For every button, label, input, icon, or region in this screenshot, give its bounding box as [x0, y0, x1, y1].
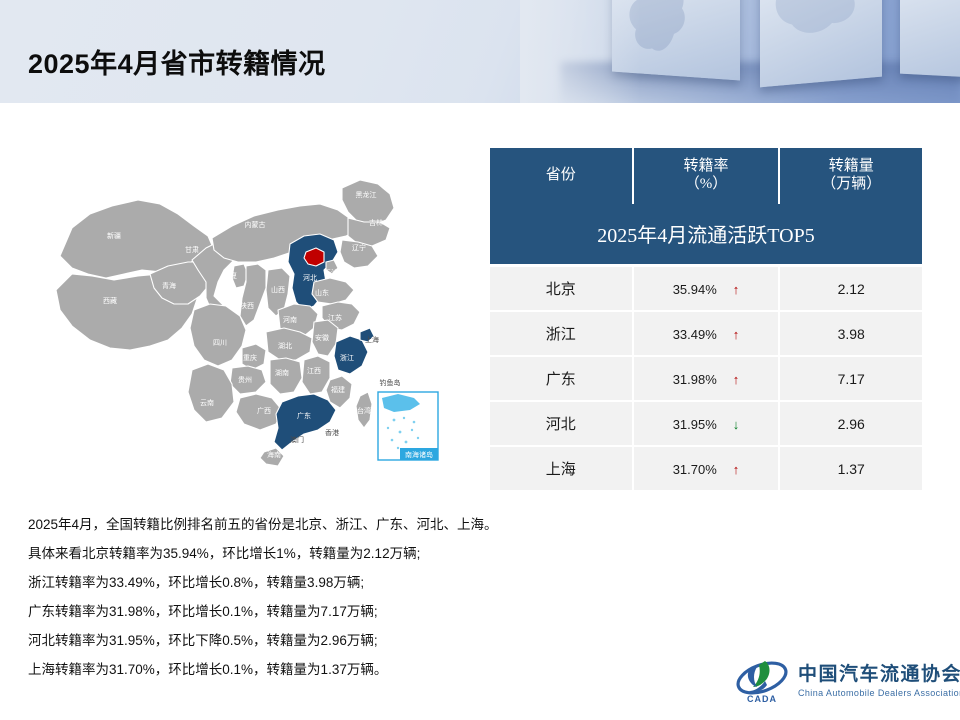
- cell-province: 北京: [490, 266, 633, 312]
- summary-line: 广东转籍率为31.98%，环比增长0.1%，转籍量为7.17万辆;: [28, 597, 668, 626]
- summary-text: 2025年4月，全国转籍比例排名前五的省份是北京、浙江、广东、河北、上海。具体来…: [28, 510, 668, 684]
- cell-rate: 33.49%↑: [633, 311, 780, 356]
- cell-volume: 3.98: [779, 311, 922, 356]
- cell-rate: 31.98%↑: [633, 356, 780, 401]
- table-column-headers: 省份 转籍率 （%） 转籍量 （万辆）: [490, 148, 922, 204]
- column-header-province-line1: 省份: [546, 167, 576, 183]
- column-header-rate-line1: 转籍率: [683, 158, 728, 174]
- cell-volume: 2.96: [779, 401, 922, 446]
- cell-rate: 31.70%↑: [633, 446, 780, 491]
- map-label-zhejiang: 浙江: [340, 353, 354, 362]
- rate-value: 33.49%: [673, 327, 717, 342]
- column-header-volume-line2: （万辆）: [821, 176, 881, 192]
- column-header-rate: 转籍率 （%）: [633, 148, 780, 204]
- column-header-volume: 转籍量 （万辆）: [779, 148, 922, 204]
- map-label-gansu: 甘肃: [185, 245, 199, 254]
- header-cube-3-icon: [900, 0, 960, 78]
- globe-texture-icon: [760, 0, 882, 87]
- cell-province: 上海: [490, 446, 633, 491]
- cell-province: 广东: [490, 356, 633, 401]
- map-label-xizang: 西藏: [103, 296, 117, 305]
- logo-name-cn: 中国汽车流通协会: [798, 665, 960, 684]
- cada-swirl-icon: CADA: [735, 657, 791, 705]
- logo-text-block: 中国汽车流通协会 China Automobile Dealers Associ…: [798, 665, 960, 698]
- province-guangdong: [274, 394, 336, 450]
- map-label-shandong: 山东: [315, 288, 329, 297]
- china-map: 南海诸岛 新疆西藏青海甘肃内蒙古黑龙江吉林辽宁宁夏山西陕西山东河南江苏安徽湖北四…: [22, 170, 462, 480]
- column-header-volume-line1: 转籍量: [829, 158, 874, 174]
- map-label-hunan: 湖南: [275, 368, 289, 377]
- cell-rate: 31.95%↓: [633, 401, 780, 446]
- map-label-guizhou: 贵州: [238, 375, 252, 384]
- map-label-qinghai: 青海: [162, 281, 176, 290]
- cada-mark-icon: CADA: [735, 657, 791, 705]
- header-cube-2-icon: [760, 0, 882, 87]
- map-label-liaoning: 辽宁: [352, 243, 366, 252]
- table-row: 浙江33.49%↑3.98: [490, 311, 922, 356]
- map-label-diaoyudao: 钓鱼岛: [380, 378, 401, 387]
- map-label-xinjiang: 新疆: [107, 231, 121, 240]
- cell-province: 浙江: [490, 311, 633, 356]
- map-label-heilongjiang: 黑龙江: [356, 190, 377, 199]
- map-label-chongqing: 重庆: [243, 353, 257, 362]
- province-yunnan: [188, 364, 234, 422]
- table-title: 2025年4月流通活跃TOP5: [490, 204, 922, 266]
- trend-down-icon: ↓: [733, 418, 740, 431]
- map-label-hongkong: 香港: [325, 428, 339, 437]
- table-row: 北京35.94%↑2.12: [490, 266, 922, 312]
- column-header-province: 省份: [490, 148, 633, 204]
- header-gradient-fade: [520, 0, 640, 103]
- cell-province: 河北: [490, 401, 633, 446]
- map-label-shaanxi: 陕西: [240, 301, 254, 310]
- table-row: 广东31.98%↑7.17: [490, 356, 922, 401]
- south-china-sea-inset: 南海诸岛: [378, 392, 438, 460]
- trend-up-icon: ↑: [733, 283, 740, 296]
- table-row: 河北31.95%↓2.96: [490, 401, 922, 446]
- rate-value: 31.70%: [673, 462, 717, 477]
- summary-line: 浙江转籍率为33.49%，环比增长0.8%，转籍量3.98万辆;: [28, 568, 668, 597]
- trend-up-icon: ↑: [733, 463, 740, 476]
- map-label-fujian: 福建: [331, 385, 345, 394]
- summary-line: 具体来看北京转籍率为35.94%，环比增长1%，转籍量为2.12万辆;: [28, 539, 668, 568]
- map-label-guangdong: 广东: [297, 411, 311, 420]
- map-label-neimenggu: 内蒙古: [245, 220, 266, 229]
- map-label-tianjin: 天津: [324, 269, 338, 277]
- rate-value: 31.98%: [673, 372, 717, 387]
- top5-table: 2025年4月流通活跃TOP5 省份 转籍率 （%） 转籍量 （万辆） 北京35…: [490, 148, 922, 492]
- map-label-beijing: 北京: [307, 253, 321, 262]
- rate-value: 31.95%: [673, 417, 717, 432]
- summary-line: 上海转籍率为31.70%，环比增长0.1%，转籍量为1.37万辆。: [28, 655, 668, 684]
- map-label-henan: 河南: [283, 315, 297, 324]
- map-label-hainan: 海南: [267, 450, 281, 459]
- province-jiangxi: [302, 356, 330, 394]
- cell-volume: 1.37: [779, 446, 922, 491]
- map-label-jiangsu: 江苏: [328, 313, 342, 322]
- cell-rate: 35.94%↑: [633, 266, 780, 312]
- column-header-rate-line2: （%）: [685, 176, 728, 192]
- map-label-hubei: 湖北: [278, 341, 292, 350]
- table-row: 上海31.70%↑1.37: [490, 446, 922, 491]
- map-label-shanxi-jin: 山西: [271, 285, 285, 294]
- map-label-sichuan: 四川: [213, 339, 227, 347]
- logo-name-en: China Automobile Dealers Association: [798, 689, 960, 698]
- cada-logo: CADA 中国汽车流通协会 China Automobile Dealers A…: [735, 655, 950, 707]
- cada-mark-text: CADA: [747, 694, 777, 704]
- summary-line: 2025年4月，全国转籍比例排名前五的省份是北京、浙江、广东、河北、上海。: [28, 510, 668, 539]
- map-label-macau: 澳门: [290, 435, 304, 444]
- map-label-hebei: 河北: [303, 274, 317, 282]
- map-label-yunnan: 云南: [200, 398, 214, 407]
- summary-line: 河北转籍率为31.95%，环比下降0.5%，转籍量为2.96万辆;: [28, 626, 668, 655]
- trend-up-icon: ↑: [733, 373, 740, 386]
- table-title-row: 2025年4月流通活跃TOP5: [490, 204, 922, 266]
- inset-label: 南海诸岛: [405, 450, 433, 459]
- rate-value: 35.94%: [673, 282, 717, 297]
- map-label-anhui: 安徽: [315, 333, 329, 342]
- map-label-jiangxi: 江西: [307, 367, 321, 375]
- cell-volume: 2.12: [779, 266, 922, 312]
- map-label-ningxia: 宁夏: [223, 271, 237, 280]
- cell-volume: 7.17: [779, 356, 922, 401]
- page-title: 2025年4月省市转籍情况: [28, 42, 326, 81]
- map-label-taiwan: 台湾: [357, 406, 371, 415]
- province-sichuan: [190, 304, 246, 366]
- china-map-svg: 南海诸岛 新疆西藏青海甘肃内蒙古黑龙江吉林辽宁宁夏山西陕西山东河南江苏安徽湖北四…: [22, 170, 462, 480]
- table-body: 北京35.94%↑2.12浙江33.49%↑3.98广东31.98%↑7.17河…: [490, 266, 922, 492]
- map-label-jilin: 吉林: [369, 218, 383, 227]
- map-label-guangxi: 广西: [257, 406, 271, 415]
- trend-up-icon: ↑: [733, 328, 740, 341]
- map-label-shanghai: 上海: [365, 335, 379, 344]
